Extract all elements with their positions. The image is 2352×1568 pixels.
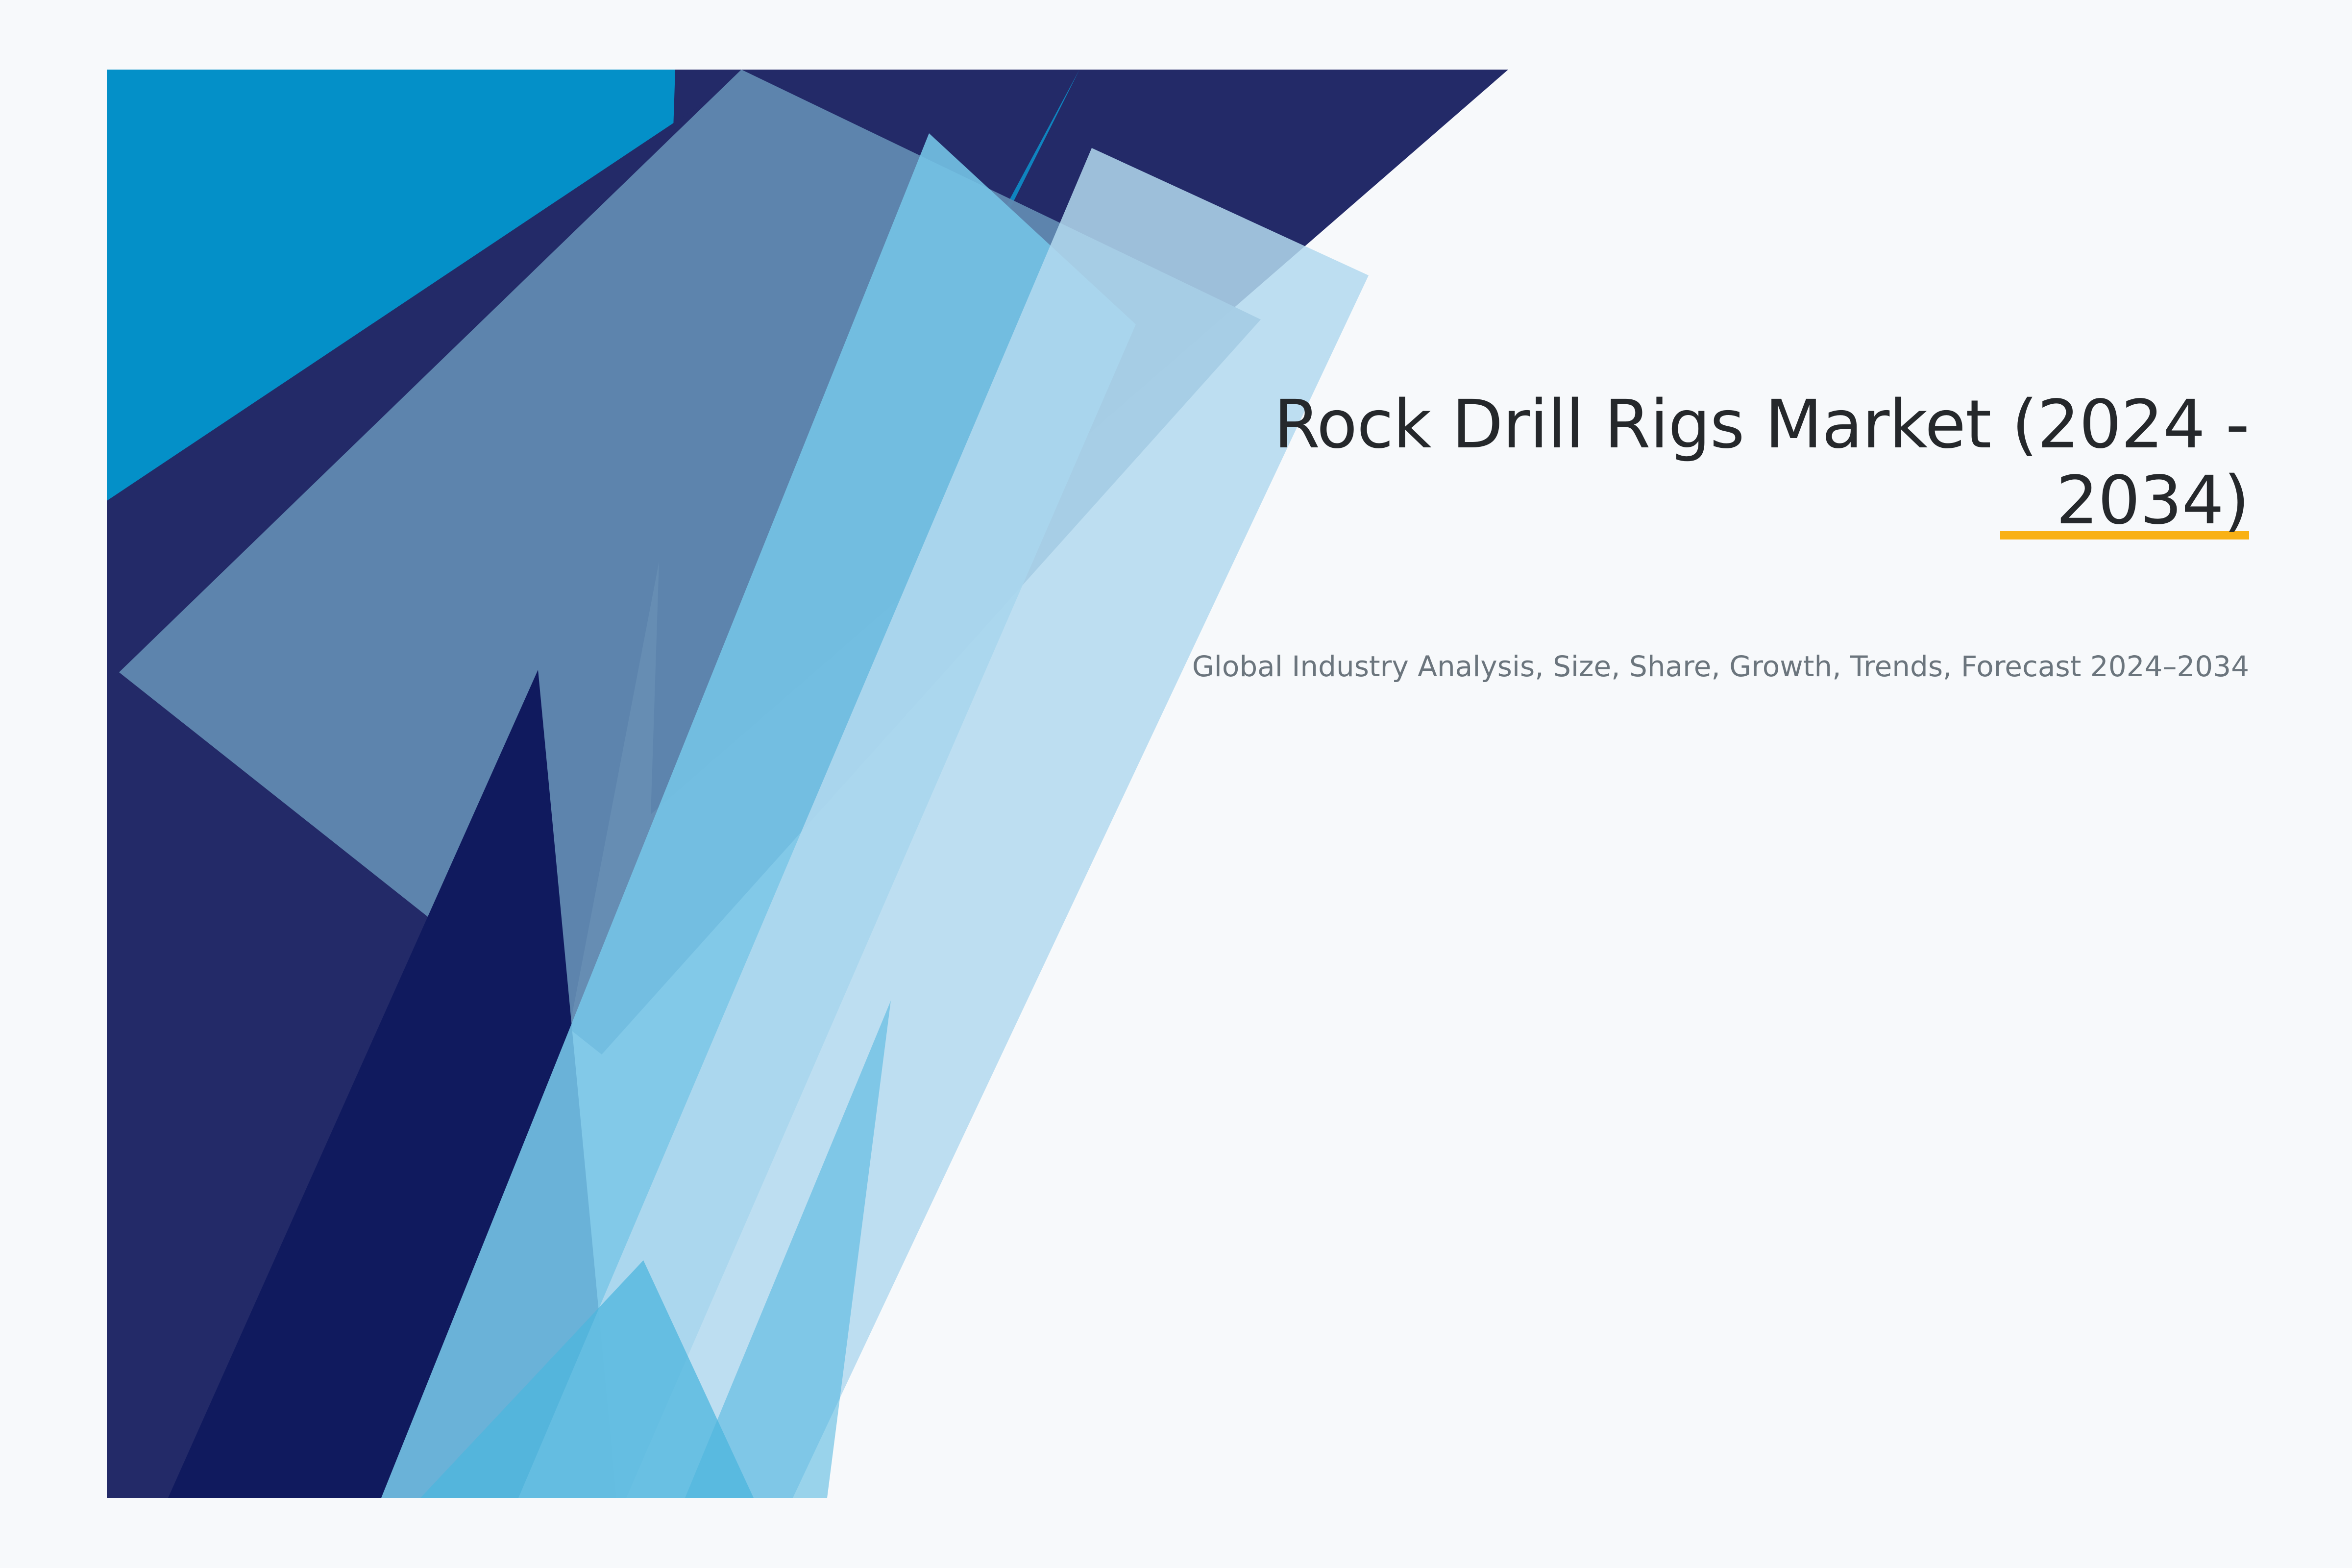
title-block: Rock Drill Rigs Market (2024 - 2034) [1127, 387, 2249, 539]
page-subtitle: Global Industry Analysis, Size, Share, G… [1127, 648, 2249, 686]
abstract-polygon-graphic [107, 70, 1508, 1498]
report-cover-slide: Rock Drill Rigs Market (2024 - 2034) Glo… [0, 0, 2352, 1568]
page-title: Rock Drill Rigs Market (2024 - 2034) [1127, 387, 2249, 539]
